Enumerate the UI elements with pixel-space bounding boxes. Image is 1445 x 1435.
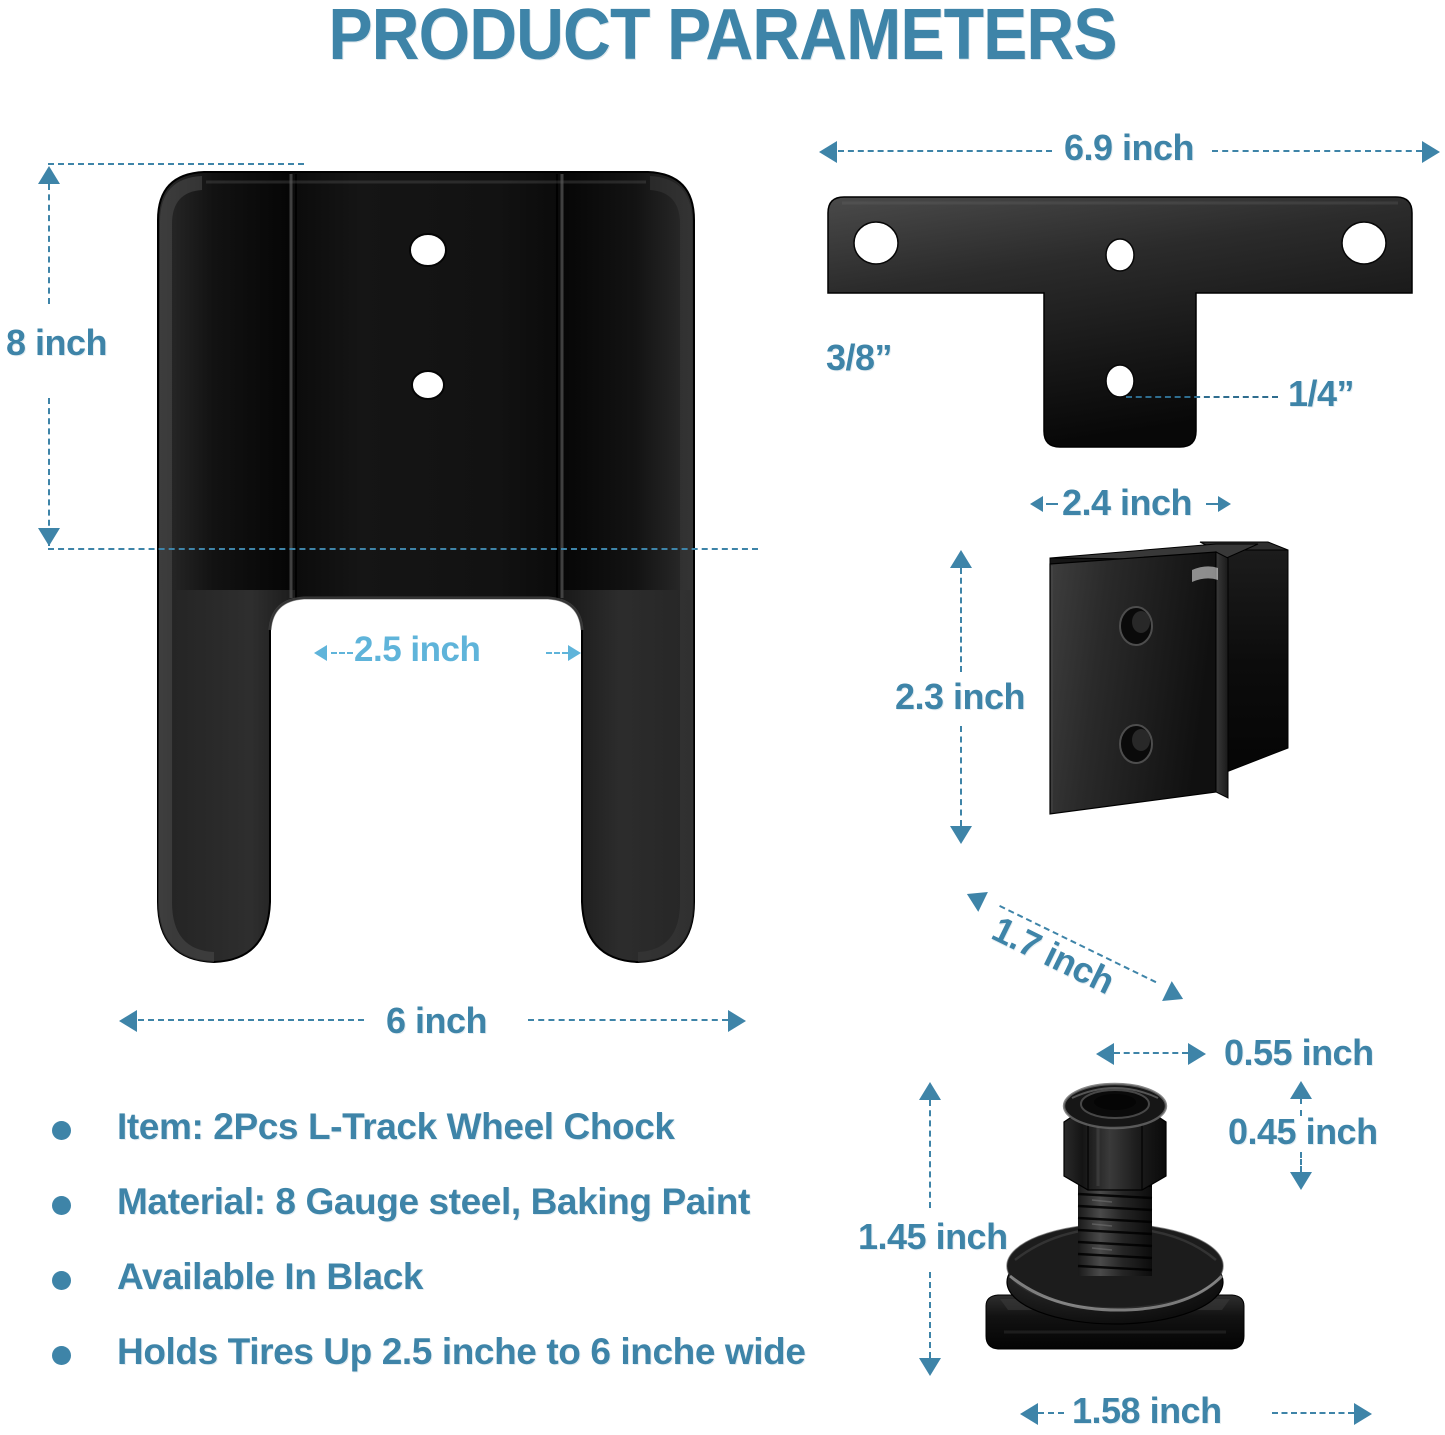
bolt-nut-height-line-upper — [1300, 1098, 1302, 1116]
chock-width-line-right — [528, 1019, 728, 1021]
chock-height-label: 8 inch — [6, 322, 107, 364]
chock-inner-width-arrow-left — [314, 645, 327, 661]
t-bracket-figure — [820, 185, 1420, 465]
l-bracket-height-line-lower — [960, 726, 962, 826]
list-item: Item: 2Pcs L-Track Wheel Chock — [52, 1108, 932, 1147]
t-bracket-stem-line-right — [1206, 503, 1218, 505]
bullet-dot-icon — [52, 1346, 71, 1365]
l-bracket-height-line-upper — [960, 568, 962, 672]
wheel-chock-illustration — [86, 160, 766, 990]
bolt-base-width-label: 1.58 inch — [1072, 1390, 1222, 1432]
bolt-nut-width-line — [1114, 1052, 1188, 1054]
bullet-dot-icon — [52, 1121, 71, 1140]
list-item: Available In Black — [52, 1258, 932, 1297]
chock-height-line-lower — [48, 398, 50, 546]
bolt-total-height-arrow-top — [919, 1082, 941, 1100]
l-bracket-height-arrow-top — [950, 550, 972, 568]
chock-height-arrow-top — [38, 166, 60, 184]
t-bracket-stem-arrow-left — [1030, 496, 1043, 512]
chock-inner-width-line-right — [546, 652, 568, 654]
product-spec-list: Item: 2Pcs L-Track Wheel Chock Material:… — [52, 1108, 932, 1407]
t-bracket-small-hole-label: 1/4” — [1288, 373, 1354, 415]
t-bracket-illustration — [820, 185, 1420, 465]
l-bracket-height-label: 2.3 inch — [895, 676, 1025, 718]
spec-capacity-label: Holds Tires Up 2.5 inche to 6 inche wide — [117, 1333, 806, 1372]
chock-width-line-left — [138, 1019, 364, 1021]
bolt-nut-width-arrow-right — [1188, 1043, 1206, 1065]
bullet-dot-icon — [52, 1196, 71, 1215]
l-bracket-illustration — [1010, 530, 1300, 860]
t-bracket-width-label: 6.9 inch — [1064, 127, 1194, 169]
t-bracket-stem-line-left — [1046, 503, 1058, 505]
t-bracket-big-hole-label: 3/8” — [826, 337, 892, 379]
l-bracket-depth-arrow-end — [1162, 981, 1188, 1009]
page-title: PRODUCT PARAMETERS — [58, 0, 1387, 76]
chock-width-arrow-right — [728, 1010, 746, 1032]
chock-height-line-upper — [48, 184, 50, 304]
bolt-base-width-line-left — [1038, 1412, 1064, 1414]
t-bracket-width-line-left — [838, 150, 1052, 152]
list-item: Material: 8 Gauge steel, Baking Paint — [52, 1183, 932, 1222]
chock-inner-width-line-left — [331, 652, 353, 654]
chock-height-extension-bottom — [48, 548, 758, 550]
bolt-nut-width-arrow-left — [1096, 1043, 1114, 1065]
bolt-nut-height-arrow-top — [1290, 1081, 1312, 1099]
chock-height-extension-top — [48, 163, 304, 165]
l-bracket-height-arrow-bottom — [950, 826, 972, 844]
t-bracket-small-hole-leader — [1126, 396, 1278, 398]
spec-material-label: Material: 8 Gauge steel, Baking Paint — [117, 1183, 750, 1222]
chock-width-arrow-left — [119, 1010, 137, 1032]
l-bracket-depth-arrow-start — [962, 884, 988, 912]
spec-item-label: Item: 2Pcs L-Track Wheel Chock — [117, 1108, 675, 1147]
bolt-base-width-arrow-left — [1020, 1403, 1038, 1425]
wheel-chock-figure: 2.5 inch — [86, 160, 766, 990]
t-bracket-width-line-right — [1212, 150, 1422, 152]
chock-width-label: 6 inch — [386, 1000, 487, 1042]
bolt-nut-height-label: 0.45 inch — [1228, 1111, 1378, 1153]
bullet-dot-icon — [52, 1271, 71, 1290]
bolt-base-width-arrow-right — [1354, 1403, 1372, 1425]
t-bracket-width-arrow-right — [1422, 141, 1440, 163]
bolt-base-width-line-right — [1272, 1412, 1354, 1414]
bolt-nut-height-arrow-bottom — [1290, 1172, 1312, 1190]
chock-inner-width-arrow-right — [568, 645, 581, 661]
list-item: Holds Tires Up 2.5 inche to 6 inche wide — [52, 1333, 932, 1372]
chock-height-arrow-bottom — [38, 528, 60, 546]
spec-color-label: Available In Black — [117, 1258, 423, 1297]
t-bracket-stem-width-label: 2.4 inch — [1062, 482, 1192, 524]
chock-inner-width-label: 2.5 inch — [354, 630, 480, 670]
l-bracket-figure — [1010, 530, 1300, 860]
bolt-nut-width-label: 0.55 inch — [1224, 1032, 1374, 1074]
t-bracket-stem-arrow-right — [1218, 496, 1231, 512]
bolt-nut-height-line-lower — [1300, 1152, 1302, 1172]
t-bracket-width-arrow-left — [819, 141, 837, 163]
